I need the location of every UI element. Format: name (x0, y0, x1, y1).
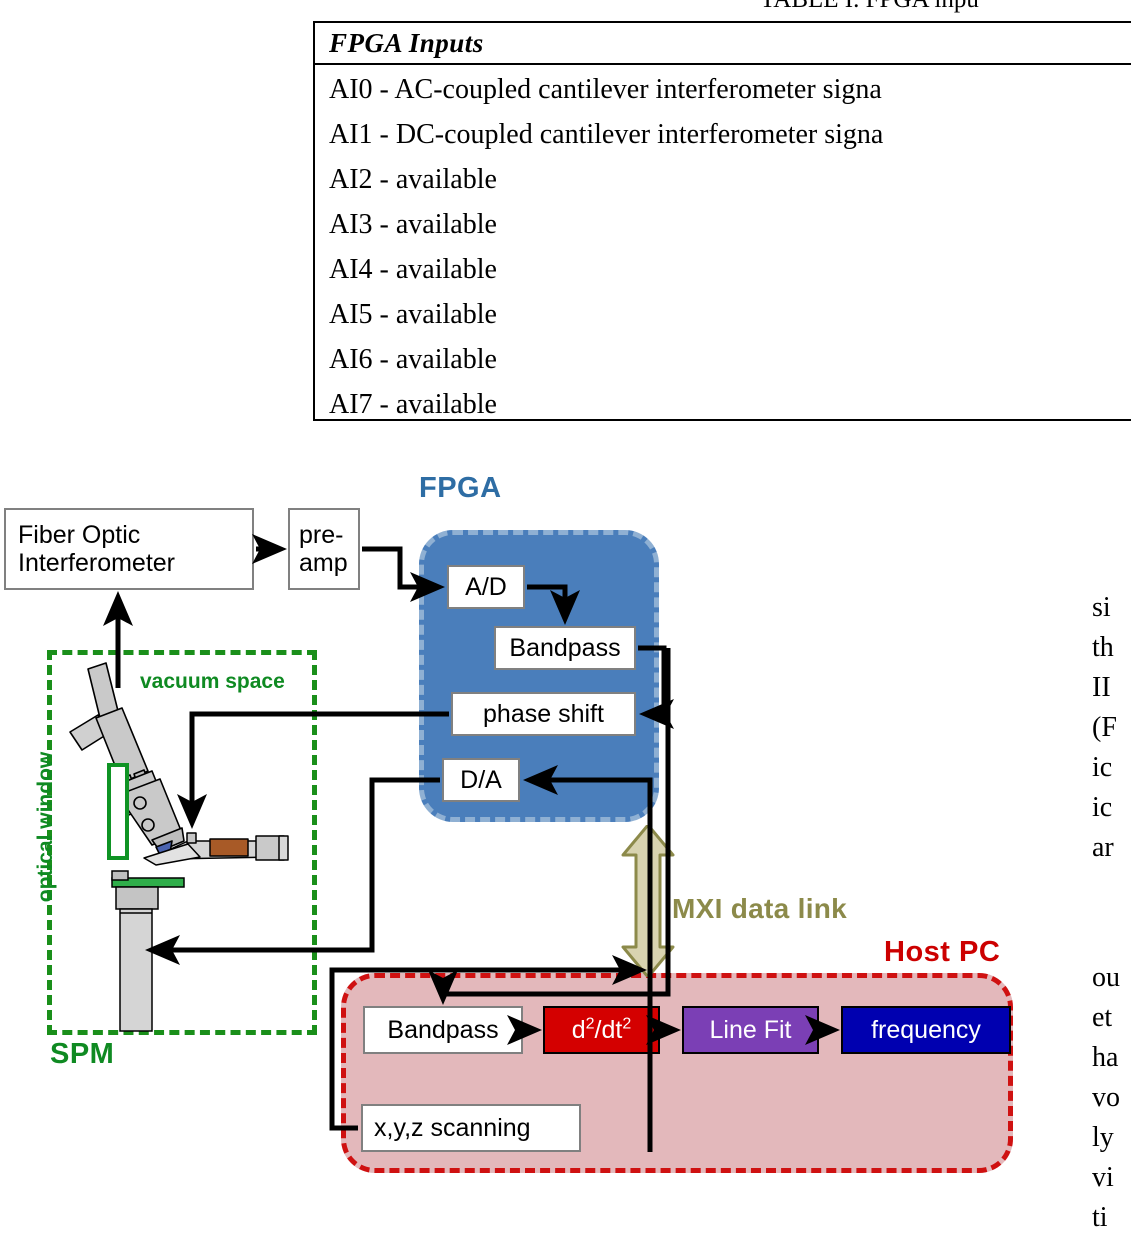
body-text-line: II (1092, 668, 1117, 708)
table-row: AI3 - available (315, 202, 1131, 247)
spm-microscope-illustration (60, 655, 330, 1035)
body-text-line: vo (1092, 1078, 1120, 1118)
body-text-line: ou (1092, 958, 1120, 998)
body-text-block-b: ou et ha vo ly vi ti (1092, 958, 1120, 1238)
table-row: AI5 - available (315, 292, 1131, 337)
node-line-fit[interactable]: Line Fit (682, 1006, 819, 1054)
table-row: AI1 - DC-coupled cantilever interferomet… (315, 112, 1131, 157)
node-preamp[interactable]: pre-amp (288, 508, 360, 590)
spm-label: SPM (50, 1038, 114, 1071)
fpga-inputs-table: FPGA Inputs AI0 - AC-coupled cantilever … (313, 21, 1131, 421)
fpga-label: FPGA (419, 472, 502, 505)
body-text-line: ic (1092, 748, 1117, 788)
body-text-line: ti (1092, 1198, 1120, 1238)
node-digital-to-analog[interactable]: D/A (442, 758, 520, 802)
node-fiber-optic-interferometer[interactable]: Fiber Optic Interferometer (4, 508, 254, 590)
system-block-diagram: SPM vacuum space optical window FPGA A/D… (0, 470, 1060, 1240)
mxi-data-link-label: MXI data link (672, 893, 847, 925)
body-text-line: ly (1092, 1118, 1120, 1158)
node-fpga-bandpass[interactable]: Bandpass (494, 626, 636, 670)
body-text-block-a: si th II (F ic ic ar (1092, 588, 1117, 868)
optical-window-shape (107, 763, 129, 860)
body-text-line: ar (1092, 828, 1117, 868)
optical-window-label: optical window (34, 737, 58, 917)
node-host-bandpass[interactable]: Bandpass (363, 1006, 523, 1054)
host-pc-label: Host PC (884, 936, 1000, 969)
mxi-double-arrow-icon (619, 825, 677, 977)
body-text-line: ha (1092, 1038, 1120, 1078)
table-row: AI2 - available (315, 157, 1131, 202)
node-frequency[interactable]: frequency (841, 1006, 1011, 1054)
body-text-line: vi (1092, 1158, 1120, 1198)
body-text-line: et (1092, 998, 1120, 1038)
node-phase-shift[interactable]: phase shift (451, 692, 636, 736)
table-caption: TABLE I. FPGA inpu (760, 0, 1131, 14)
node-analog-to-digital[interactable]: A/D (447, 565, 525, 609)
table-column-header: FPGA Inputs (315, 23, 1131, 65)
body-text-line: (F (1092, 708, 1117, 748)
body-text-line: si (1092, 588, 1117, 628)
table-body: AI0 - AC-coupled cantilever interferomet… (315, 65, 1131, 427)
table-row: AI7 - available (315, 382, 1131, 427)
body-text-line: th (1092, 628, 1117, 668)
body-text-line: ic (1092, 788, 1117, 828)
node-second-derivative[interactable]: d2/dt2 (543, 1006, 660, 1054)
table-row: AI6 - available (315, 337, 1131, 382)
table-row: AI4 - available (315, 247, 1131, 292)
node-xyz-scanning[interactable]: x,y,z scanning (361, 1104, 581, 1152)
table-row: AI0 - AC-coupled cantilever interferomet… (315, 67, 1131, 112)
vacuum-space-label: vacuum space (140, 670, 285, 694)
derivative-expression: d2/dt2 (572, 1016, 632, 1044)
